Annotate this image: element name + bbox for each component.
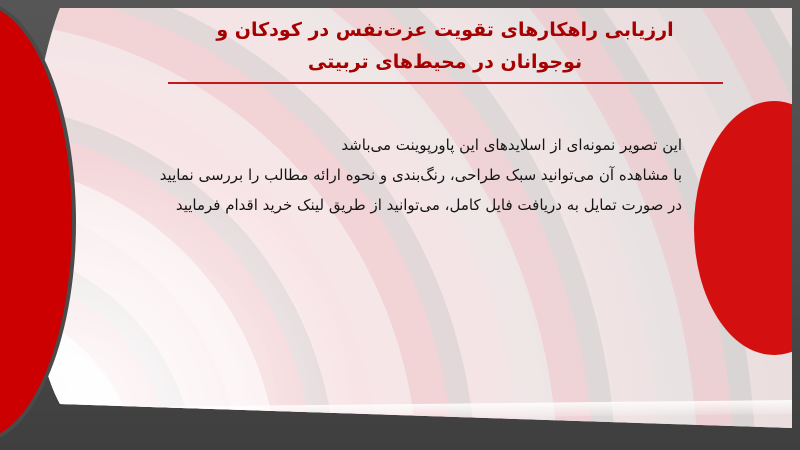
slide-title: ارزیابی راهکارهای تقویت عزت‌نفس در کودکا… [120, 14, 770, 84]
title-underline-rule [168, 82, 723, 84]
presentation-slide: ارزیابی راهکارهای تقویت عزت‌نفس در کودکا… [0, 0, 800, 450]
body-line-3: در صورت تمایل به دریافت فایل کامل، می‌تو… [130, 190, 682, 220]
slide-body-text: این تصویر نمونه‌ای از اسلایدهای این پاور… [130, 130, 682, 220]
slide-content-panel: ارزیابی راهکارهای تقویت عزت‌نفس در کودکا… [0, 8, 792, 434]
body-line-2: با مشاهده آن می‌توانید سبک طراحی، رنگ‌بن… [130, 160, 682, 190]
title-line-2: نوجوانان در محیط‌های تربیتی [120, 46, 770, 78]
title-line-1: ارزیابی راهکارهای تقویت عزت‌نفس در کودکا… [120, 14, 770, 46]
body-line-1: این تصویر نمونه‌ای از اسلایدهای این پاور… [130, 130, 682, 160]
